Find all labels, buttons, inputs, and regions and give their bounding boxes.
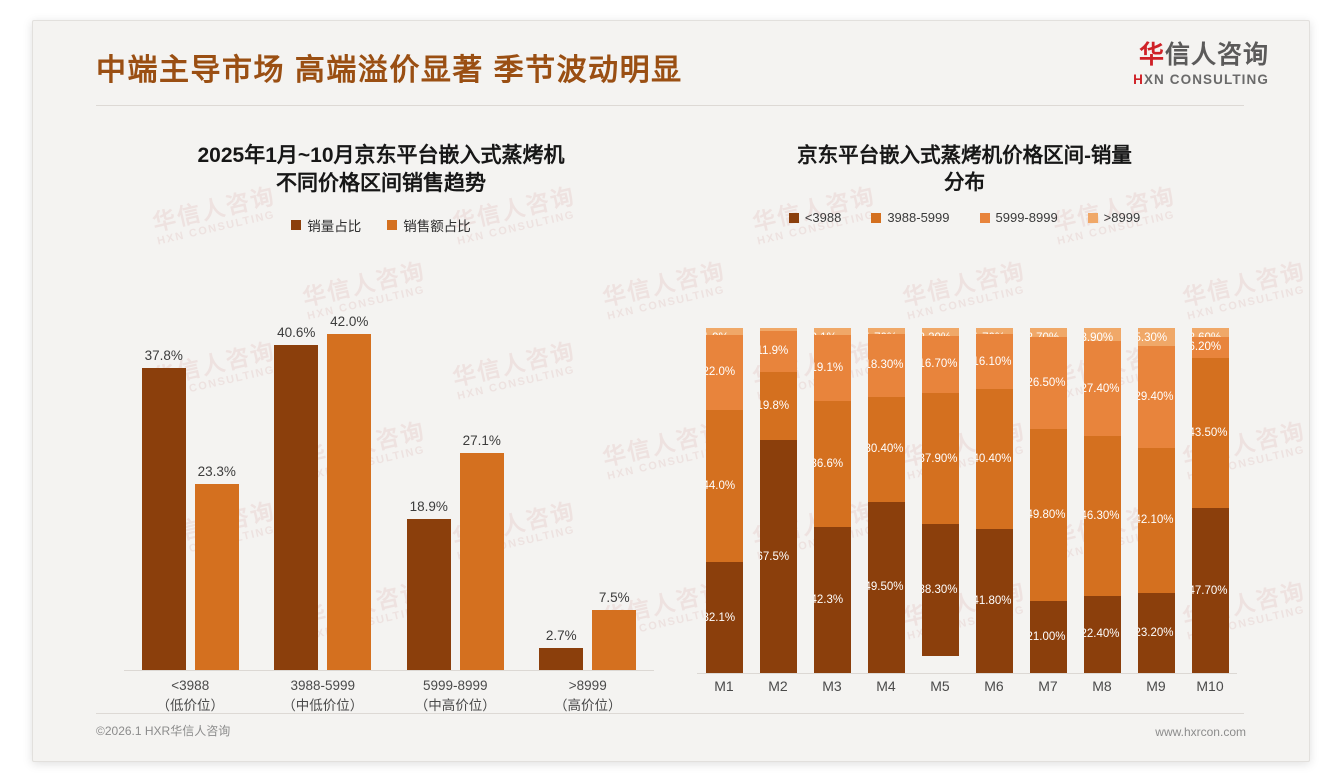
x-axis-labels-right: M1M2M3M4M5M6M7M8M9M10	[697, 678, 1237, 708]
stack-segment-label: 42.3%	[814, 594, 844, 606]
stack-segment-3988-5999[interactable]: 40.40%	[976, 389, 1013, 528]
x-tick-label: >8999（高价位）	[522, 676, 655, 717]
logo-chinese-rest: 信人咨询	[1165, 41, 1269, 69]
stack-segment-label: 49.80%	[1030, 509, 1066, 521]
x-tick-label-month: M10	[1183, 678, 1237, 694]
chart-title-right-line2: 分布	[944, 171, 985, 194]
stack-segment-3988-5999[interactable]: 37.90%	[922, 393, 959, 524]
stacked-bar-M5[interactable]: 2.20%16.70%37.90%38.30%	[922, 328, 959, 673]
stack-segment-label: 37.90%	[922, 453, 958, 465]
bar-value-label: 42.0%	[330, 314, 368, 329]
legend-swatch-icon	[387, 220, 397, 230]
bar-value-label: 27.1%	[463, 433, 501, 448]
chart-legend-right: <39883988-59995999-8999>8999	[683, 210, 1246, 225]
legend-label: 销售额占比	[403, 215, 471, 235]
x-tick-label-month: M4	[859, 678, 913, 694]
page-title: 中端主导市场 高端溢价显著 季节波动明显	[96, 45, 683, 89]
bar-value-label: 7.5%	[599, 590, 630, 605]
stack-segment-label: 36.6%	[814, 458, 844, 470]
stack-segment-<3988[interactable]: 23.20%	[1138, 593, 1175, 673]
legend-item-sales-1[interactable]: 销售额占比	[387, 215, 471, 235]
stack-segment->8999[interactable]: 3.90%	[1084, 328, 1121, 341]
x-tick-label-month: M8	[1075, 678, 1129, 694]
stack-segment->8999[interactable]: 2.20%	[922, 328, 959, 336]
bar-value-label: 40.6%	[277, 325, 315, 340]
stack-segment-label: 27.40%	[1084, 383, 1120, 395]
slide-header: 中端主导市场 高端溢价显著 季节波动明显 华信人咨询 HXN CONSULTIN…	[33, 21, 1309, 109]
stack-segment-label: 5.30%	[1138, 332, 1168, 344]
stack-segment-label: 16.10%	[976, 356, 1012, 368]
x-tick-label-month: M1	[697, 678, 751, 694]
legend-label: <3988	[805, 210, 842, 225]
stack-segment-3988-5999[interactable]: 42.10%	[1138, 448, 1175, 593]
chart-title-right-line1: 京东平台嵌入式蒸烤机价格区间-销量	[797, 144, 1132, 167]
stack-segment-label: 42.10%	[1138, 514, 1174, 526]
stack-segment->8999[interactable]: 5.30%	[1138, 328, 1175, 346]
bar-slot: 7.5%	[592, 610, 636, 670]
stack-segment-<3988[interactable]: 41.80%	[976, 529, 1013, 673]
stack-segment-label: 38.30%	[922, 584, 958, 596]
bar-group: 40.6%42.0%	[257, 310, 390, 670]
chart-plot-left: 37.8%23.3%40.6%42.0%18.9%27.1%2.7%7.5%	[124, 281, 654, 671]
bar-value-label: 37.8%	[145, 348, 183, 363]
bar-group: 37.8%23.3%	[124, 310, 257, 670]
chart-legend-left: 销量占比销售额占比	[96, 215, 666, 235]
stack-segment-5999-8999[interactable]: 26.50%	[1030, 337, 1067, 428]
legend-label: 销量占比	[307, 215, 361, 235]
stack-segment-label: 29.40%	[1138, 391, 1174, 403]
bar-value-label: 2.7%	[546, 628, 577, 643]
x-tick-label: <3988（低价位）	[124, 676, 257, 717]
x-tick-range: >8999	[569, 678, 607, 693]
chart-plot-right: 1.9%22.0%44.0%32.1%0.8%11.9%19.8%67.5%2.…	[697, 274, 1237, 674]
x-tick-label: 3988-5999（中低价位）	[257, 676, 390, 717]
stack-segment-5999-8999[interactable]: 19.1%	[814, 335, 851, 401]
stack-segment-5999-8999[interactable]: 11.9%	[760, 331, 797, 372]
stack-segment-label: 18.30%	[868, 359, 904, 371]
stack-segment-label: 46.30%	[1084, 510, 1120, 522]
bar-销量占比->8999[interactable]: 2.7%	[539, 648, 583, 670]
stack-segment-<3988[interactable]: 22.40%	[1084, 596, 1121, 673]
stack-segment-3988-5999[interactable]: 36.6%	[814, 401, 851, 527]
legend-item-band-1[interactable]: 3988-5999	[871, 210, 949, 225]
chart-title-right: 京东平台嵌入式蒸烤机价格区间-销量 分布	[683, 116, 1246, 196]
stack-segment->8999[interactable]: 2.70%	[1030, 328, 1067, 337]
bar-销售额占比->8999[interactable]: 7.5%	[592, 610, 636, 670]
header-divider	[96, 105, 1244, 106]
legend-label: 3988-5999	[887, 210, 949, 225]
stack-segment-5999-8999[interactable]: 27.40%	[1084, 341, 1121, 436]
stacked-bar-M8[interactable]: 3.90%27.40%46.30%22.40%	[1084, 328, 1121, 673]
stack-segment-5999-8999[interactable]: 18.30%	[868, 334, 905, 397]
logo-english: HXN CONSULTING	[1133, 73, 1269, 87]
stack-segment-label: 32.1%	[706, 612, 736, 624]
stack-segment-<3988[interactable]: 67.5%	[760, 440, 797, 673]
chart-title-left-line1: 2025年1月~10月京东平台嵌入式蒸烤机	[197, 144, 564, 167]
stacked-bar-M1[interactable]: 1.9%22.0%44.0%32.1%	[706, 328, 743, 673]
stack-segment->8999[interactable]: 2.1%	[814, 328, 851, 335]
stacked-bar-M9[interactable]: 5.30%29.40%42.10%23.20%	[1138, 328, 1175, 673]
logo-english-rest: XN CONSULTING	[1144, 72, 1269, 87]
logo-english-first-char: H	[1133, 72, 1144, 87]
legend-item-band-3[interactable]: >8999	[1088, 210, 1141, 225]
legend-swatch-icon	[1088, 213, 1098, 223]
stacked-bar-M4[interactable]: 1.70%18.30%30.40%49.50%	[868, 328, 905, 673]
stack-segment->8999[interactable]: 2.60%	[1192, 328, 1229, 337]
stack-segment-3988-5999[interactable]: 46.30%	[1084, 436, 1121, 596]
legend-swatch-icon	[980, 213, 990, 223]
chart-title-left: 2025年1月~10月京东平台嵌入式蒸烤机 不同价格区间销售趋势	[96, 116, 666, 197]
bar-销售额占比-<3988[interactable]: 23.3%	[195, 484, 239, 670]
bar-group: 2.7%7.5%	[522, 310, 655, 670]
stack-segment-3988-5999[interactable]: 44.0%	[706, 410, 743, 562]
stack-segment-label: 16.70%	[922, 358, 958, 370]
x-tick-label-month: M2	[751, 678, 805, 694]
legend-swatch-icon	[789, 213, 799, 223]
stack-segment-<3988[interactable]: 32.1%	[706, 562, 743, 673]
x-tick-label-month: M7	[1021, 678, 1075, 694]
stacked-bar-M10[interactable]: 2.60%6.20%43.50%47.70%	[1192, 328, 1229, 673]
stack-segment-<3988[interactable]: 49.50%	[868, 502, 905, 673]
legend-label: 5999-8999	[996, 210, 1058, 225]
stacked-bar-M6[interactable]: 1.70%16.10%40.40%41.80%	[976, 328, 1013, 673]
legend-swatch-icon	[291, 220, 301, 230]
bar-slot: 40.6%	[274, 345, 318, 670]
slide-canvas: 华信人咨询HXN CONSULTING华信人咨询HXN CONSULTING华信…	[32, 20, 1310, 762]
x-axis-line-right	[697, 673, 1237, 674]
chart-panel-price-band-share: 2025年1月~10月京东平台嵌入式蒸烤机 不同价格区间销售趋势 销量占比销售额…	[96, 116, 666, 716]
stack-segment-label: 47.70%	[1192, 585, 1228, 597]
footer-website[interactable]: www.hxrcon.com	[1155, 725, 1246, 739]
x-tick-range: 5999-8999	[423, 678, 488, 693]
stack-segment-label: 22.40%	[1084, 628, 1120, 640]
bar-group: 18.9%27.1%	[389, 310, 522, 670]
stack-segment-label: 19.8%	[760, 400, 790, 412]
legend-item-band-2[interactable]: 5999-8999	[980, 210, 1058, 225]
stack-segment-label: 11.9%	[760, 345, 789, 357]
stacked-bar-M2[interactable]: 0.8%11.9%19.8%67.5%	[760, 328, 797, 673]
bar-销售额占比-3988-5999[interactable]: 42.0%	[327, 334, 371, 670]
stack-segment-label: 26.50%	[1030, 377, 1066, 389]
x-tick-label-month: M5	[913, 678, 967, 694]
stack-segment-3988-5999[interactable]: 43.50%	[1192, 358, 1229, 508]
stack-segment-label: 43.50%	[1192, 427, 1228, 439]
bar-slot: 2.7%	[539, 648, 583, 670]
stack-segment-label: 49.50%	[868, 581, 904, 593]
footer-divider	[96, 713, 1244, 714]
x-tick-label: 5999-8999（中高价位）	[389, 676, 522, 717]
x-tick-label-month: M3	[805, 678, 859, 694]
stack-segment-label: 22.0%	[706, 366, 736, 378]
bar-slot: 27.1%	[460, 453, 504, 670]
bar-slot: 37.8%	[142, 368, 186, 670]
stack-segment-label: 44.0%	[706, 480, 736, 492]
stack-segment-<3988[interactable]: 42.3%	[814, 527, 851, 673]
x-axis-line-left	[124, 670, 654, 671]
stack-segment-5999-8999[interactable]: 16.10%	[976, 334, 1013, 390]
stack-segment-label: 40.40%	[976, 453, 1012, 465]
footer-copyright: ©2026.1 HXR华信人咨询	[96, 722, 230, 739]
stack-segment-3988-5999[interactable]: 49.80%	[1030, 429, 1067, 601]
stack-segment-label: 19.1%	[814, 362, 844, 374]
bar-销量占比-5999-8999[interactable]: 18.9%	[407, 519, 451, 670]
stack-segment-label: 30.40%	[868, 443, 904, 455]
stacked-bar-M3[interactable]: 2.1%19.1%36.6%42.3%	[814, 328, 851, 673]
stack-segment-label: 6.20%	[1192, 341, 1222, 353]
bar-销售额占比-5999-8999[interactable]: 27.1%	[460, 453, 504, 670]
bar-销量占比-3988-5999[interactable]: 40.6%	[274, 345, 318, 670]
stack-segment-<3988[interactable]: 38.30%	[922, 524, 959, 656]
stack-segment-<3988[interactable]: 47.70%	[1192, 508, 1229, 673]
stack-segment-label: 67.5%	[760, 551, 790, 563]
stack-segment-3988-5999[interactable]: 19.8%	[760, 372, 797, 440]
stacked-bar-M7[interactable]: 2.70%26.50%49.80%21.00%	[1030, 328, 1067, 673]
bar-value-label: 18.9%	[410, 499, 448, 514]
bar-slot: 18.9%	[407, 519, 451, 670]
legend-item-sales-0[interactable]: 销量占比	[291, 215, 361, 235]
stack-segment-label: 23.20%	[1138, 627, 1174, 639]
legend-item-band-0[interactable]: <3988	[789, 210, 842, 225]
stack-segment-5999-8999[interactable]: 22.0%	[706, 335, 743, 411]
logo-chinese-first-char: 华	[1139, 41, 1165, 69]
bar-slot: 42.0%	[327, 334, 371, 670]
stack-segment-5999-8999[interactable]: 16.70%	[922, 336, 959, 394]
x-tick-range: 3988-5999	[290, 678, 355, 693]
x-tick-label-month: M9	[1129, 678, 1183, 694]
stack-segment-label: 3.90%	[1084, 332, 1114, 341]
stack-segment-5999-8999[interactable]: 29.40%	[1138, 346, 1175, 447]
bar-value-label: 23.3%	[198, 464, 236, 479]
bar-销量占比-<3988[interactable]: 37.8%	[142, 368, 186, 670]
bar-slot: 23.3%	[195, 484, 239, 670]
stack-segment-5999-8999[interactable]: 6.20%	[1192, 337, 1229, 358]
chart-title-left-line2: 不同价格区间销售趋势	[276, 172, 486, 195]
stack-segment-<3988[interactable]: 21.00%	[1030, 601, 1067, 673]
brand-logo: 华信人咨询 HXN CONSULTING	[1133, 43, 1269, 87]
legend-label: >8999	[1104, 210, 1141, 225]
chart-panel-monthly-distribution: 京东平台嵌入式蒸烤机价格区间-销量 分布 <39883988-59995999-…	[683, 116, 1246, 716]
x-tick-range: <3988	[171, 678, 209, 693]
x-tick-label-month: M6	[967, 678, 1021, 694]
stack-segment-label: 21.00%	[1030, 631, 1066, 643]
stack-segment-3988-5999[interactable]: 30.40%	[868, 397, 905, 502]
legend-swatch-icon	[871, 213, 881, 223]
logo-chinese: 华信人咨询	[1133, 43, 1269, 68]
stack-segment-label: 41.80%	[976, 595, 1012, 607]
